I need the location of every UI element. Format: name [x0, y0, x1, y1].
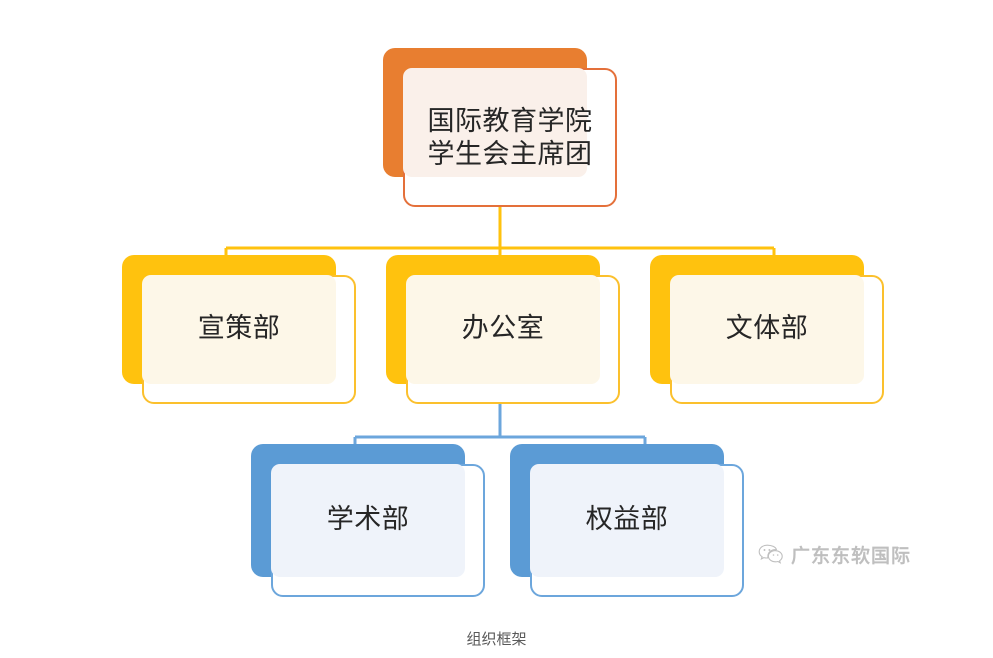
- chart-caption: 组织框架: [0, 628, 993, 649]
- node-root[interactable]: 国际教育学院 学生会主席团: [383, 48, 617, 207]
- node-office-card[interactable]: 办公室: [406, 275, 620, 404]
- node-academic-card[interactable]: 学术部: [271, 464, 485, 597]
- node-academic[interactable]: 学术部: [251, 444, 485, 597]
- node-publicity-card[interactable]: 宣策部: [142, 275, 356, 404]
- node-culture-sports-label: 文体部: [726, 312, 809, 345]
- org-chart-canvas: 国际教育学院 学生会主席团 宣策部 办公室 文体部 学术部: [0, 0, 993, 658]
- watermark-label: 广东东软国际: [791, 541, 911, 568]
- node-publicity-label: 宣策部: [198, 312, 281, 345]
- node-culture-sports[interactable]: 文体部: [650, 255, 884, 404]
- node-office-label: 办公室: [462, 312, 545, 345]
- node-rights-label: 权益部: [586, 503, 669, 536]
- wechat-icon: [758, 544, 784, 566]
- node-root-label: 国际教育学院 学生会主席团: [428, 105, 593, 171]
- node-culture-sports-card[interactable]: 文体部: [670, 275, 884, 404]
- watermark: 广东东软国际: [758, 541, 911, 568]
- node-rights[interactable]: 权益部: [510, 444, 744, 597]
- node-office[interactable]: 办公室: [386, 255, 620, 404]
- node-publicity[interactable]: 宣策部: [122, 255, 356, 404]
- node-academic-label: 学术部: [327, 503, 410, 536]
- node-rights-card[interactable]: 权益部: [530, 464, 744, 597]
- node-root-card[interactable]: 国际教育学院 学生会主席团: [403, 68, 617, 207]
